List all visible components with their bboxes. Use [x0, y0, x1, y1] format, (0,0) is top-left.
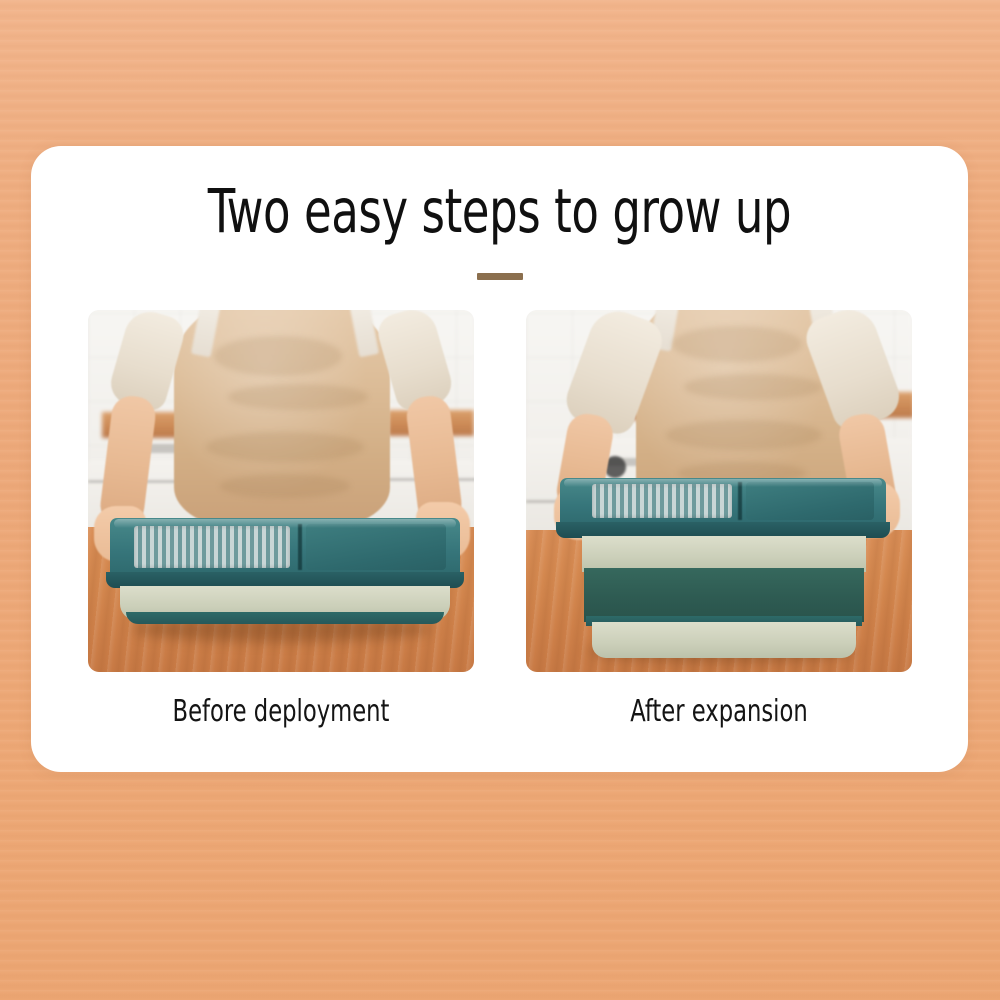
page-title: Two easy steps to grow up [115, 180, 883, 243]
apron-fold-b [684, 374, 822, 400]
product-lid-seam [738, 482, 742, 520]
product-band-middle-dark [584, 568, 864, 622]
photo-before-deployment [88, 310, 474, 672]
apron-fold-b [228, 384, 368, 410]
product-drain-grid [592, 484, 732, 518]
product-base-foot [126, 612, 444, 624]
product-drain-grid [134, 526, 290, 568]
apron-fold-d [220, 474, 350, 498]
product-lid-sheen [114, 519, 456, 528]
apron-fold-c [666, 420, 822, 450]
apron-fold-a [672, 326, 802, 362]
product-infographic-page: Two easy steps to grow up [0, 0, 1000, 1000]
photo-after-expansion [526, 310, 912, 672]
comparison-photo-row [88, 310, 912, 672]
product-band-lower-light [592, 622, 856, 658]
product-lid-seam [298, 524, 302, 570]
product-band-upper-light [582, 536, 866, 572]
product-lid-sheen [564, 479, 882, 487]
title-divider-bar [477, 273, 523, 280]
caption-before-deployment: Before deployment [119, 694, 443, 729]
product-lid-panel [306, 524, 446, 570]
product-lid-panel [746, 482, 874, 520]
apron-fold-a [214, 336, 342, 376]
content-card: Two easy steps to grow up [31, 146, 968, 772]
caption-row: Before deployment After expansion [88, 694, 912, 729]
apron-fold-c [206, 432, 364, 462]
caption-after-expansion: After expansion [557, 694, 881, 729]
